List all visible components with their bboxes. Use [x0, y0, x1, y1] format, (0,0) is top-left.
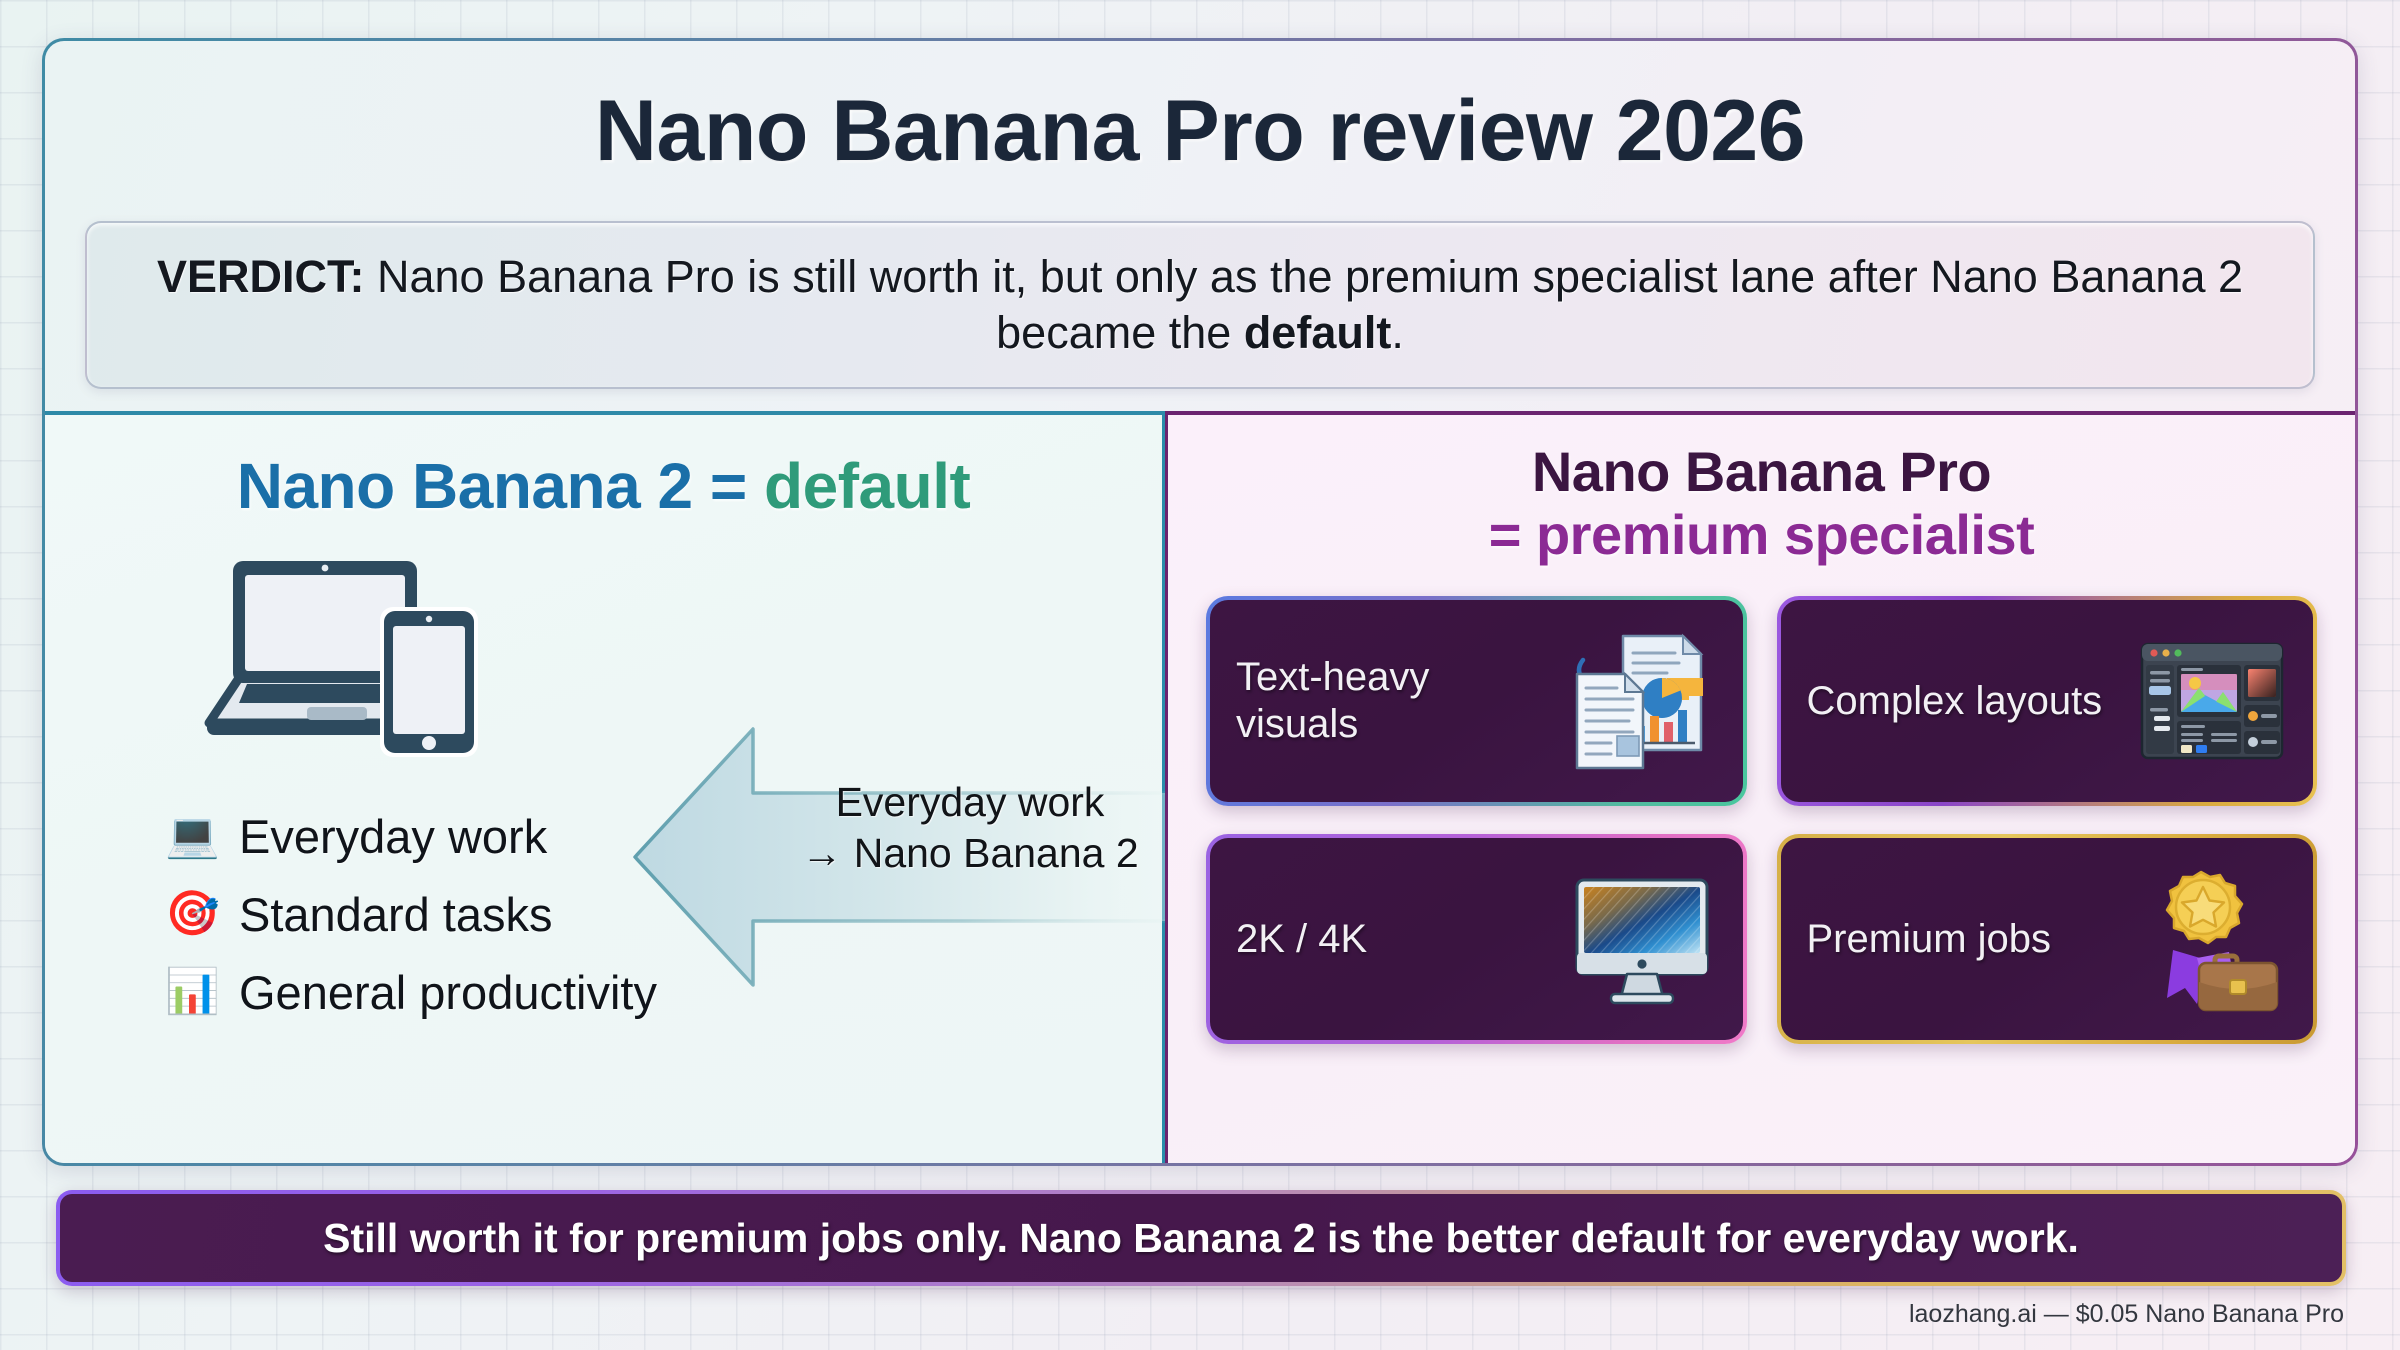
list-item: 📊 General productivity: [165, 953, 657, 1031]
left-panel-nano-banana-2: Nano Banana 2 = default: [45, 411, 1165, 1163]
feature-card-inner: Complex layouts: [1781, 600, 2314, 802]
footer-banner: Still worth it for premium jobs only. Na…: [56, 1190, 2346, 1286]
right-heading-line1: Nano Banana Pro: [1206, 441, 2317, 504]
card-label: 2K / 4K: [1236, 916, 1553, 963]
verdict-body-part2: .: [1391, 307, 1404, 358]
desktop-monitor-icon: [1567, 864, 1717, 1014]
feature-card-grid: Text-heavy visuals: [1206, 596, 2317, 1044]
card-label: Premium jobs: [1807, 916, 2124, 963]
card-label: Text-heavy visuals: [1236, 654, 1553, 748]
verdict-wrapper: VERDICT: Nano Banana Pro is still worth …: [45, 221, 2355, 389]
feature-card-inner: Premium jobs: [1781, 838, 2314, 1040]
bullet-label: Everyday work: [239, 809, 547, 864]
footer-banner-text: Still worth it for premium jobs only. Na…: [323, 1215, 2079, 1262]
flow-arrow-label: Everyday work → Nano Banana 2: [790, 777, 1150, 880]
feature-card-complex-layouts[interactable]: Complex layouts: [1777, 596, 2318, 806]
flow-arrow-line2: → Nano Banana 2: [790, 828, 1150, 879]
infographic-frame-inner: Nano Banana Pro review 2026 VERDICT: Nan…: [45, 41, 2355, 1163]
feature-card-inner: Text-heavy visuals: [1210, 600, 1743, 802]
verdict-box: VERDICT: Nano Banana Pro is still worth …: [85, 221, 2315, 389]
page-title: Nano Banana Pro review 2026: [595, 82, 1805, 181]
panels-container: Nano Banana 2 = default: [45, 411, 2355, 1163]
dart-target-emoji: 🎯: [165, 892, 217, 936]
verdict-text: VERDICT: Nano Banana Pro is still worth …: [139, 249, 2261, 362]
credit-line: laozhang.ai — $0.05 Nano Banana Pro: [1909, 1300, 2344, 1329]
laptop-emoji: 💻: [165, 814, 217, 858]
verdict-emphasis: default: [1244, 307, 1392, 358]
left-heading-equals: =: [693, 450, 764, 522]
infographic-frame: Nano Banana Pro review 2026 VERDICT: Nan…: [42, 38, 2358, 1166]
left-heading-secondary: default: [764, 450, 970, 522]
verdict-label: VERDICT:: [157, 251, 365, 302]
left-panel-heading: Nano Banana 2 = default: [45, 449, 1162, 523]
title-area: Nano Banana Pro review 2026: [45, 41, 2355, 221]
right-panel-nano-banana-pro: Nano Banana Pro = premium specialist Tex…: [1165, 411, 2355, 1163]
feature-card-2k-4k[interactable]: 2K / 4K: [1206, 834, 1747, 1044]
card-label: Complex layouts: [1807, 678, 2124, 725]
design-app-window-icon: [2137, 626, 2287, 776]
left-heading-primary: Nano Banana 2: [237, 450, 693, 522]
left-panel-body: 💻 Everyday work 🎯 Standard tasks 📊 Gener…: [45, 547, 1162, 1163]
bullet-label: Standard tasks: [239, 887, 553, 942]
flow-arrow-line1: Everyday work: [790, 777, 1150, 828]
bar-chart-emoji: 📊: [165, 970, 217, 1014]
list-item: 💻 Everyday work: [165, 797, 657, 875]
footer-banner-inner: Still worth it for premium jobs only. Na…: [60, 1194, 2342, 1282]
feature-card-inner: 2K / 4K: [1210, 838, 1743, 1040]
documents-with-charts-icon: [1567, 626, 1717, 776]
feature-card-premium-jobs[interactable]: Premium jobs: [1777, 834, 2318, 1044]
feature-card-text-heavy-visuals[interactable]: Text-heavy visuals: [1206, 596, 1747, 806]
list-item: 🎯 Standard tasks: [165, 875, 657, 953]
right-panel-heading: Nano Banana Pro = premium specialist: [1206, 441, 2317, 566]
right-heading-line2: = premium specialist: [1206, 504, 2317, 567]
award-medal-and-briefcase-icon: [2137, 864, 2287, 1014]
bullet-label: General productivity: [239, 965, 657, 1020]
left-panel-bullet-list: 💻 Everyday work 🎯 Standard tasks 📊 Gener…: [165, 797, 657, 1031]
laptop-and-tablet-illustration: [195, 547, 525, 762]
